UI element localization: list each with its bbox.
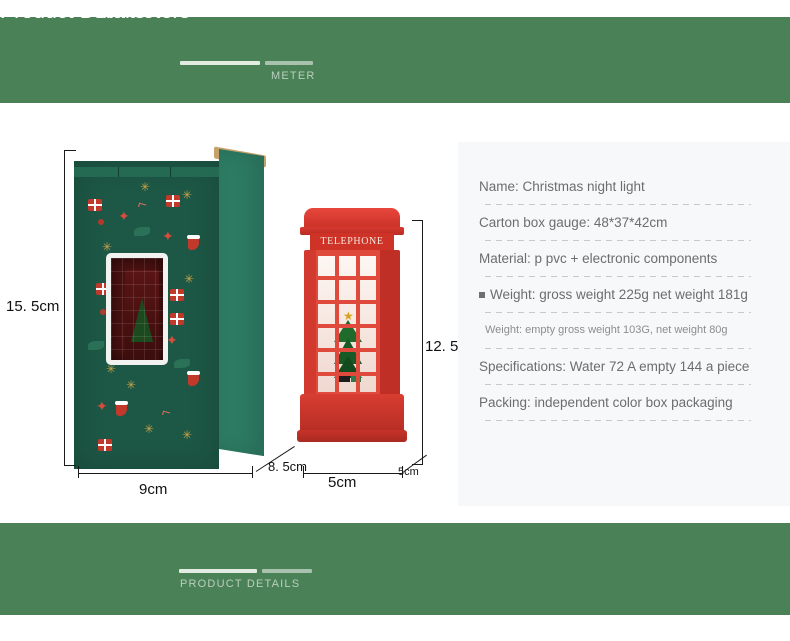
box-width-cap-left (78, 466, 79, 478)
details-rule-faded (262, 569, 312, 573)
snowflake-pattern-icon: ✳ (184, 273, 194, 285)
box-front-panel: ✦ ⌐ ✳ ✳ ✦ ✳ ✦ ✳ ✦ ✳ ✳ ✦ (74, 161, 219, 469)
snowflake-pattern-icon: ✳ (144, 423, 154, 435)
booth-base (300, 394, 404, 434)
spec-item-packing: Packing: independent color box packaging (479, 394, 779, 421)
box-flap-seam (170, 167, 171, 177)
spec-text: Weight: empty gross weight 103G, net wei… (479, 322, 779, 339)
box-width-label: 9cm (139, 481, 167, 498)
page-subtitle: METER (271, 70, 316, 82)
spec-divider (485, 276, 751, 277)
stocking-pattern-icon (188, 235, 199, 250)
banner-inner (0, 17, 790, 103)
candy-cane-pattern-icon: ⌐ (136, 196, 148, 213)
gift-pattern-icon (166, 195, 180, 207)
stocking-pattern-icon (188, 371, 199, 386)
details-rule-solid (179, 569, 257, 573)
gift-pattern-icon (88, 199, 102, 211)
spec-text: Weight: gross weight 225g net weight 181… (479, 286, 779, 303)
box-side-panel (219, 149, 264, 456)
booth-window-mullions (318, 256, 376, 392)
details-subtitle: PRODUCT DETAILS (180, 578, 300, 590)
box-display-window (106, 253, 168, 365)
gift-pattern-icon (170, 313, 184, 325)
holly-pattern-icon (174, 359, 190, 368)
spec-item-carton-gauge: Carton box gauge: 48*37*42cm (479, 214, 779, 241)
spec-divider (485, 348, 751, 349)
spec-text: Packing: independent color box packaging (479, 394, 779, 411)
star-pattern-icon: ✦ (162, 229, 174, 243)
booth-height-cap-top (412, 220, 423, 221)
holly-pattern-icon (134, 227, 150, 236)
product-details-banner (0, 523, 790, 615)
spec-divider (485, 204, 751, 205)
box-top-flap (74, 167, 219, 177)
snowflake-pattern-icon: ✳ (102, 241, 112, 253)
product-photo-stage: ✦ ⌐ ✳ ✳ ✦ ✳ ✦ ✳ ✦ ✳ ✳ ✦ (0, 103, 458, 523)
booth-glass-panel: ★ (318, 256, 376, 392)
box-flap-seam (118, 167, 119, 177)
holly-pattern-icon (88, 341, 104, 350)
snowflake-pattern-icon: ✳ (182, 189, 192, 201)
title-rule-solid (180, 61, 260, 65)
booth-depth-label: 5cm (398, 466, 419, 478)
candy-cane-pattern-icon: ⌐ (160, 404, 172, 421)
snowflake-pattern-icon: ✳ (140, 181, 150, 193)
specifications-list: Name: Christmas night light Carton box g… (479, 178, 779, 430)
snowflake-pattern-icon: ✳ (182, 429, 192, 441)
title-rule-faded (265, 61, 313, 65)
booth-foot (297, 430, 407, 442)
booth-width-label: 5cm (328, 474, 356, 491)
star-pattern-icon: ✦ (96, 399, 108, 413)
spec-item-material: Material: p pvc + electronic components (479, 250, 779, 277)
spec-text: Name: Christmas night light (479, 178, 779, 195)
booth-body: ★ (304, 250, 400, 398)
box-depth-label: 8. 5cm (268, 459, 307, 474)
booth-height-line (422, 220, 423, 465)
spec-divider (485, 312, 751, 313)
snowflake-pattern-icon: ✳ (126, 379, 136, 391)
product-parameters-banner (0, 17, 790, 103)
box-width-line (78, 473, 253, 474)
details-title: Product Details (0, 0, 145, 24)
spec-item-specifications: Specifications: Water 72 A empty 144 a p… (479, 358, 779, 385)
spec-text: Material: p pvc + electronic components (479, 250, 779, 267)
star-pattern-icon: ✦ (118, 209, 130, 223)
box-width-cap-right (252, 466, 253, 478)
gift-pattern-icon (170, 289, 184, 301)
box-height-cap-top (64, 150, 76, 151)
spec-text: Carton box gauge: 48*37*42cm (479, 214, 779, 231)
product-parameters-page: Product Parameters METER ✦ ⌐ ✳ ✳ ✦ (0, 0, 790, 641)
box-height-cap-bottom (64, 465, 76, 466)
gift-box-illustration: ✦ ⌐ ✳ ✳ ✦ ✳ ✦ ✳ ✦ ✳ ✳ ✦ (74, 149, 264, 469)
spec-divider (485, 384, 751, 385)
banner-inner (0, 523, 790, 615)
spec-item-name: Name: Christmas night light (479, 178, 779, 205)
box-height-label: 15. 5cm (6, 298, 59, 315)
spec-divider (485, 240, 751, 241)
window-grid-overlay (111, 258, 163, 360)
spec-text: Specifications: Water 72 A empty 144 a p… (479, 358, 779, 375)
booth-telephone-sign: TELEPHONE (310, 233, 394, 250)
stocking-pattern-icon (116, 401, 127, 416)
spec-item-empty-weight: Weight: empty gross weight 103G, net wei… (479, 322, 779, 349)
spec-divider (485, 420, 751, 421)
box-height-line (64, 150, 65, 465)
gift-pattern-icon (98, 439, 112, 451)
berry-pattern-icon (98, 219, 104, 225)
spec-item-weight: Weight: gross weight 225g net weight 181… (479, 286, 779, 313)
telephone-booth-nightlight: TELEPHONE ★ (300, 208, 404, 448)
